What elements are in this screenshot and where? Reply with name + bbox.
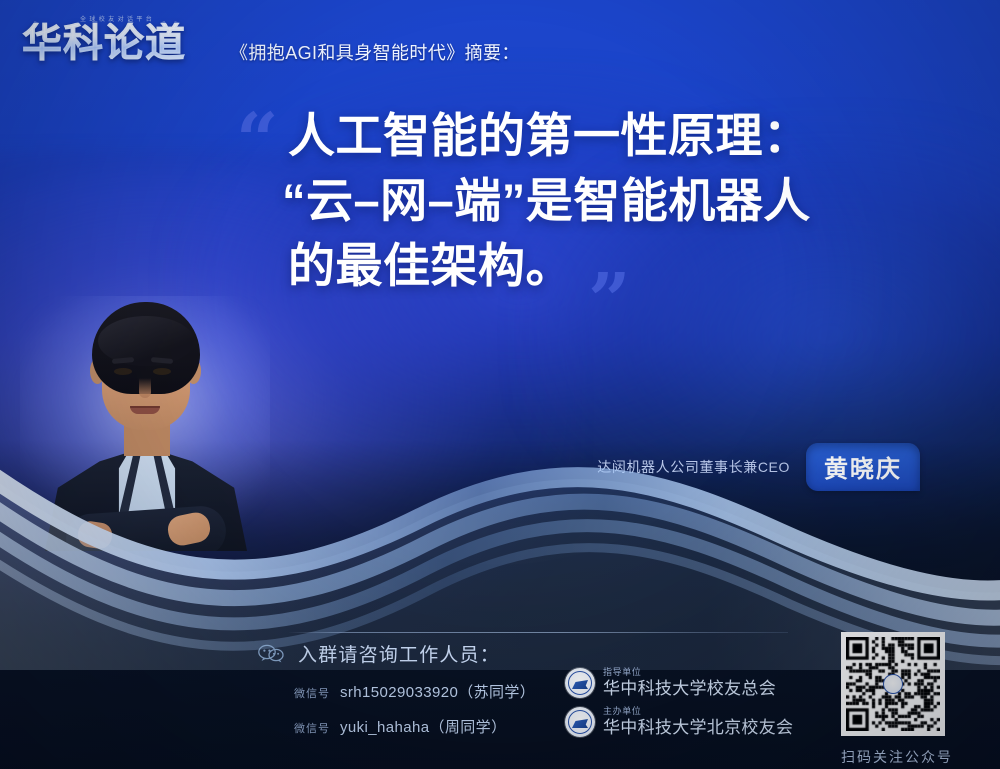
poster-canvas: 全球校友对话平台 华科论道 《拥抱AGI和具身智能时代》摘要： “ ” 人工智能… [0,0,1000,769]
vignette-overlay [0,0,1000,769]
